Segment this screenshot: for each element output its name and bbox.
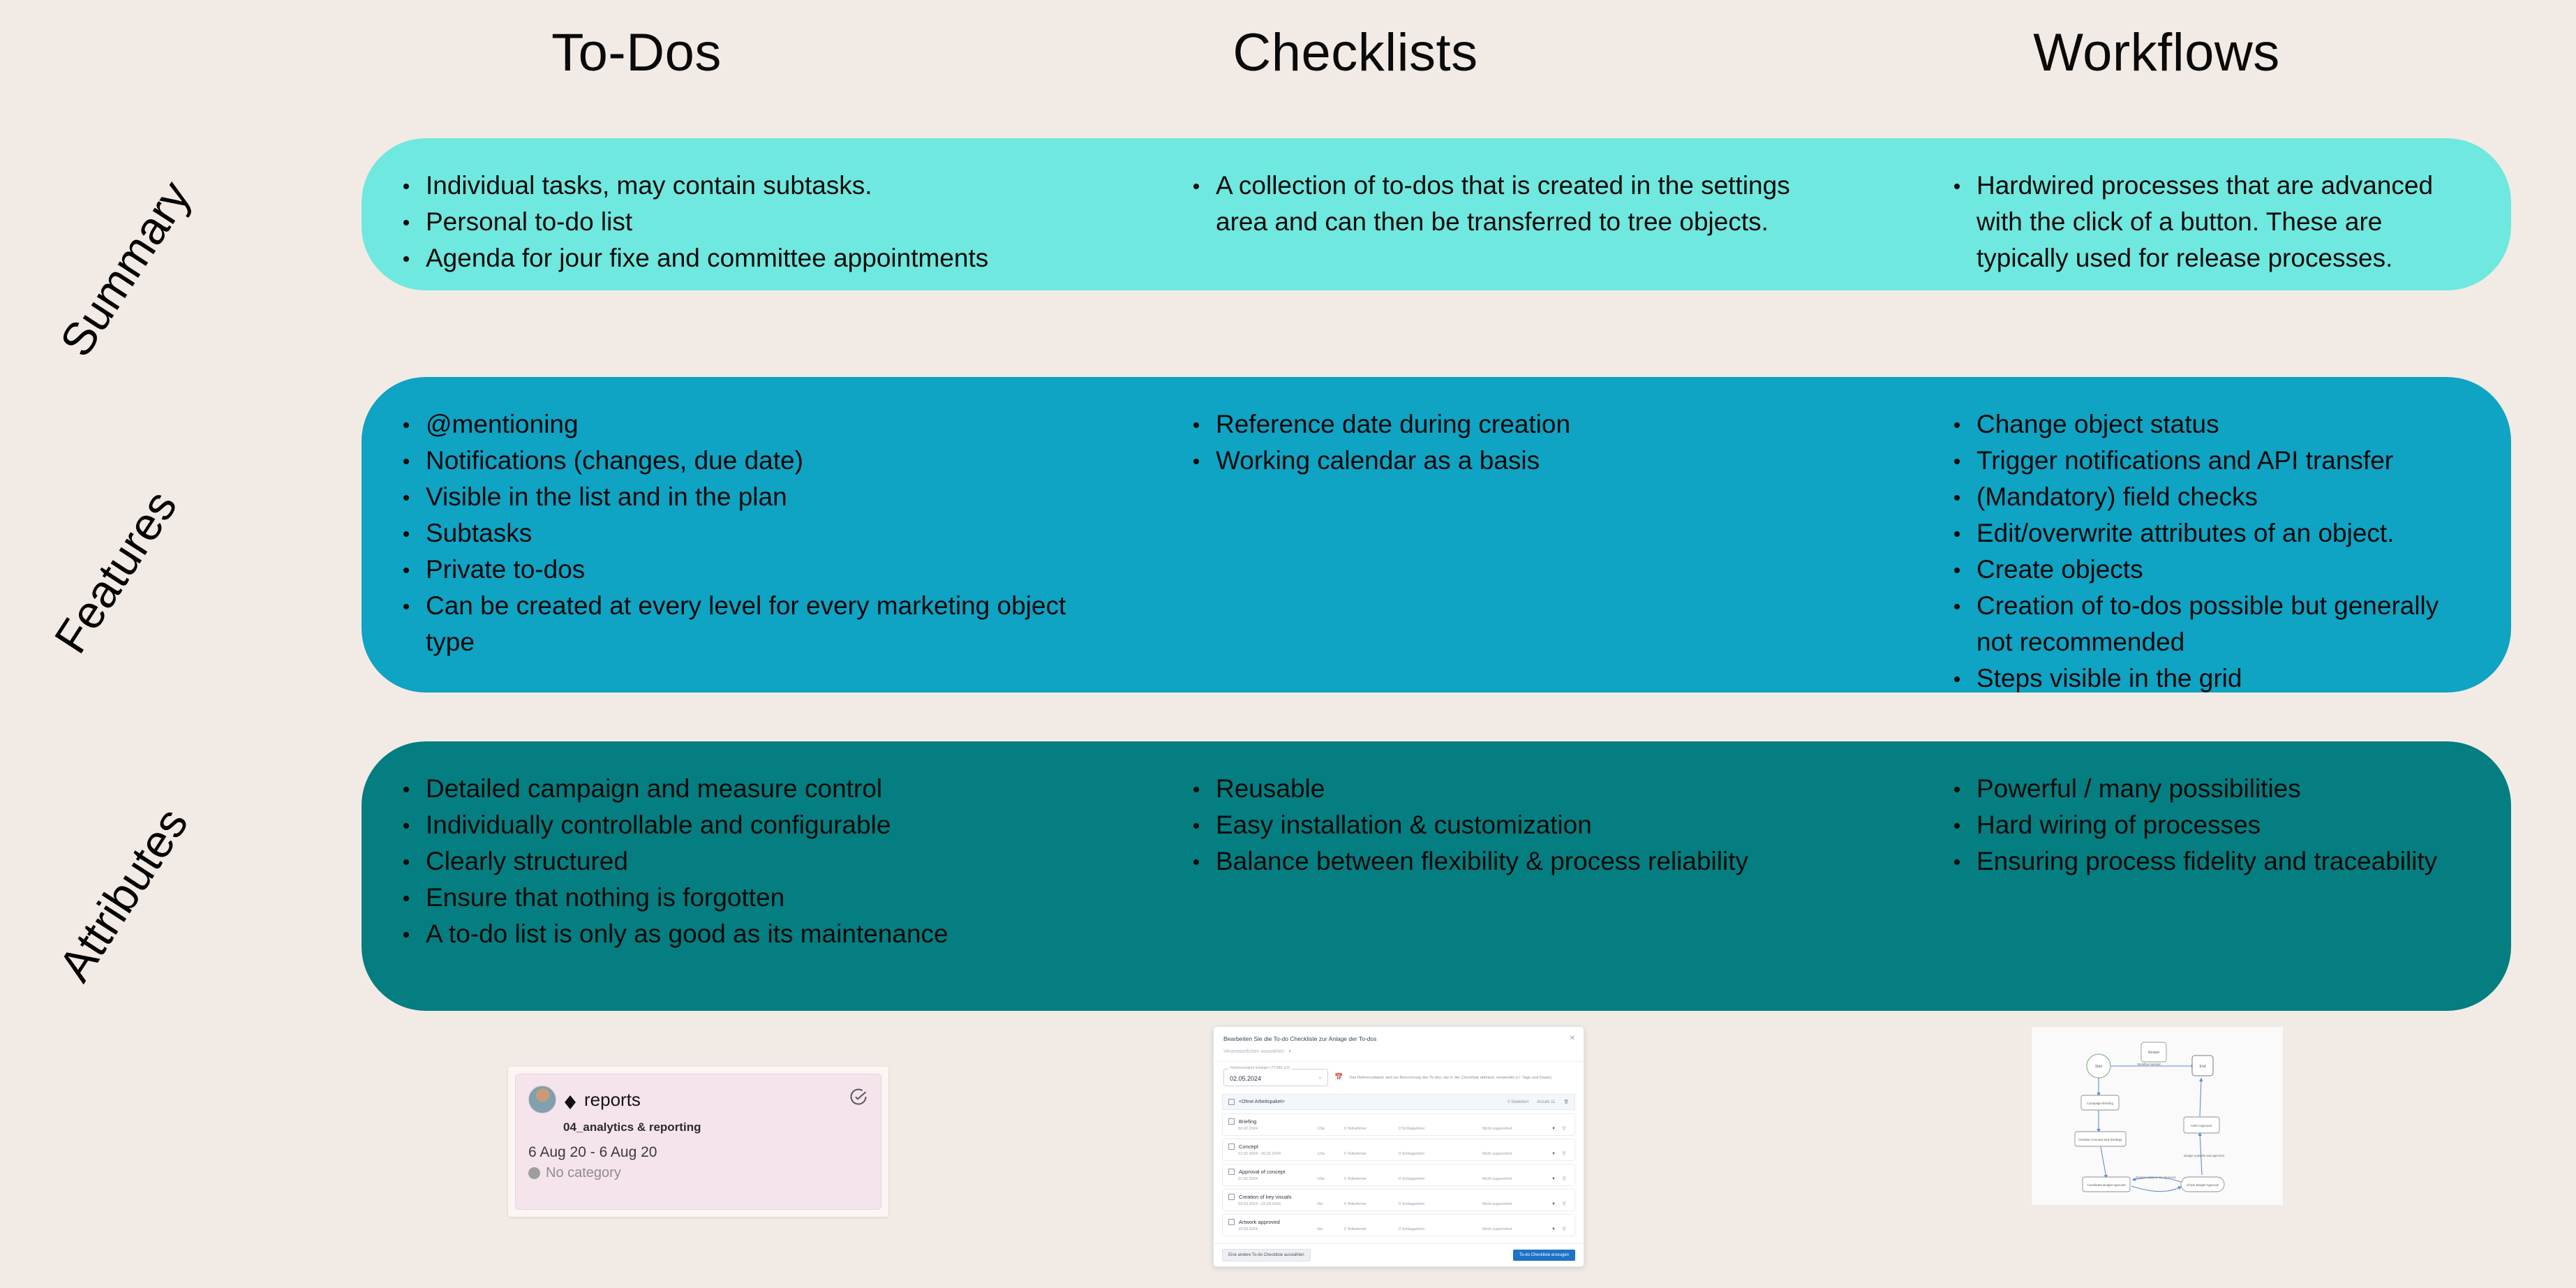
bullet-item: Ensure that nothing is forgotten bbox=[398, 880, 1072, 916]
bullet-item: Subtasks bbox=[398, 515, 1072, 552]
row-name: Artwork approved bbox=[1239, 1219, 1280, 1225]
bullet-item: Reusable bbox=[1188, 771, 1842, 807]
band-features: @mentioningNotifications (changes, due d… bbox=[362, 377, 2511, 693]
row-name: Concept bbox=[1239, 1143, 1258, 1150]
reference-date-value: 02.05.2024 bbox=[1230, 1075, 1261, 1082]
chevron-down-icon[interactable]: ▼ bbox=[1548, 1202, 1559, 1206]
bullet-item: Edit/overwrite attributes of an object. bbox=[1949, 515, 2469, 552]
todo-card-category: No category bbox=[528, 1165, 868, 1181]
group-header-row[interactable]: <Ohne Arbeitspaket> 0 Selektiert Anzahl … bbox=[1222, 1094, 1575, 1110]
row-participants: 0 Teilnehmer bbox=[1344, 1202, 1399, 1206]
bullet-item: Creation of to-dos possible but generall… bbox=[1949, 588, 2469, 660]
row-assignment: Nicht zugeordnet bbox=[1482, 1127, 1548, 1131]
chevron-down-icon: ▼ bbox=[1288, 1050, 1292, 1054]
bullet-item: Hard wiring of processes bbox=[1949, 807, 2469, 843]
edge-label-budget-not-approved: Budget empty or not approved bbox=[2136, 1176, 2176, 1179]
todo-card-screenshot: reports 04_analytics & reporting 6 Aug 2… bbox=[508, 1067, 888, 1217]
row-offset: -10w bbox=[1316, 1177, 1344, 1181]
cell-features-todos: @mentioningNotifications (changes, due d… bbox=[362, 406, 1089, 663]
checklist-row[interactable]: Artwork approved23.03.2024-6w0 Teilnehme… bbox=[1222, 1214, 1575, 1236]
checklist-rows: Briefing02.02.2024-13w0 Teilnehmer0 Schl… bbox=[1222, 1113, 1575, 1236]
row-name: Briefing bbox=[1239, 1118, 1256, 1125]
edge-label-workflow-needed: Workflow Needed bbox=[2138, 1063, 2161, 1066]
group-total-count: Anzahl 11 bbox=[1537, 1100, 1555, 1104]
group-checkbox[interactable] bbox=[1228, 1099, 1235, 1105]
checklist-row-title: Concept bbox=[1228, 1143, 1569, 1150]
bullet-item: @mentioning bbox=[398, 406, 1072, 443]
column-headers: To-Dos Checklists Workflows bbox=[0, 27, 2576, 103]
group-header-right: 0 Selektiert Anzahl 11 🗑 bbox=[1507, 1100, 1569, 1104]
row-label-attributes: Attributes bbox=[51, 800, 195, 989]
cell-summary-todos: Individual tasks, may contain subtasks.P… bbox=[362, 168, 1089, 261]
trash-icon[interactable]: 🗑 bbox=[1559, 1177, 1569, 1181]
responsible-select[interactable]: Verantwortlichen auswählen ▼ bbox=[1214, 1048, 1584, 1061]
category-dot-icon bbox=[528, 1167, 540, 1179]
calendar-icon[interactable]: 📅 bbox=[1334, 1074, 1343, 1081]
reference-date-area: Referenzdatum festlegen (TT.MM.JJJ) 02.0… bbox=[1214, 1061, 1584, 1094]
trash-icon[interactable]: 🗑 bbox=[1559, 1127, 1569, 1131]
row-date: 03.03.2024 - 22.03.2024 bbox=[1228, 1202, 1316, 1206]
reference-date-field[interactable]: Referenzdatum festlegen (TT.MM.JJJ) 02.0… bbox=[1223, 1069, 1328, 1086]
bullet-item: Create objects bbox=[1949, 552, 2469, 588]
row-participants: 0 Teilnehmer bbox=[1344, 1152, 1399, 1156]
row-assignment: Nicht zugeordnet bbox=[1482, 1227, 1548, 1231]
node-start-label: Start bbox=[2095, 1065, 2103, 1069]
row-assignment: Nicht zugeordnet bbox=[1482, 1202, 1548, 1206]
cell-features-checklists: Reference date during creationWorking ca… bbox=[1089, 406, 1870, 663]
row-checkbox[interactable] bbox=[1228, 1169, 1235, 1175]
todo-card-header: reports bbox=[528, 1086, 868, 1113]
cell-attributes-checklists: ReusableEasy installation & customizatio… bbox=[1089, 771, 1870, 982]
responsible-placeholder: Verantwortlichen auswählen bbox=[1223, 1049, 1284, 1054]
edge-label-budget-approved: Budget available and approved bbox=[2184, 1154, 2224, 1157]
close-icon[interactable]: ✕ bbox=[1570, 1035, 1575, 1042]
bullet-list: Hardwired processes that are advanced wi… bbox=[1949, 168, 2469, 276]
bullet-item: Balance between flexibility & process re… bbox=[1188, 843, 1842, 880]
bullet-item: A to-do list is only as good as its main… bbox=[398, 916, 1072, 952]
group-selected-count: 0 Selektiert bbox=[1507, 1100, 1528, 1104]
row-label-features: Features bbox=[47, 483, 184, 660]
row-name: Creation of key visuals bbox=[1239, 1194, 1291, 1200]
row-tags: 0 Schlagwörter bbox=[1399, 1127, 1482, 1131]
row-date: 12.02.2024 - 26.02.2024 bbox=[1228, 1152, 1316, 1156]
node-coordinate-budget-approval-label: Coordinate Budget Approval bbox=[2087, 1183, 2126, 1187]
chevron-down-icon[interactable]: ▼ bbox=[1548, 1177, 1559, 1181]
dialog-footer: Eine andere To-do Checkliste auswählen T… bbox=[1214, 1243, 1584, 1266]
row-tags: 0 Schlagwörter bbox=[1399, 1202, 1482, 1206]
group-label: <Ohne Arbeitspaket> bbox=[1239, 1100, 1285, 1104]
row-date: 02.02.2024 bbox=[1228, 1127, 1316, 1131]
checklist-row[interactable]: Creation of key visuals03.03.2024 - 22.0… bbox=[1222, 1189, 1575, 1211]
row-offset: -13w bbox=[1316, 1127, 1344, 1131]
row-offset: -12w bbox=[1316, 1152, 1344, 1156]
workflow-diagram: Start Restart End Campaign Briefing Crea… bbox=[2032, 1027, 2283, 1205]
row-offset: -9w bbox=[1316, 1202, 1344, 1206]
node-campaign-briefing-label: Campaign Briefing bbox=[2087, 1102, 2113, 1105]
choose-other-checklist-button[interactable]: Eine andere To-do Checkliste auswählen bbox=[1222, 1249, 1311, 1261]
trash-icon[interactable]: 🗑 bbox=[1559, 1202, 1569, 1206]
checklist-row[interactable]: Approval of concept27.02.2024-10w0 Teiln… bbox=[1222, 1164, 1575, 1186]
checklist-row-title: Artwork approved bbox=[1228, 1219, 1569, 1225]
bullet-list: A collection of to-dos that is created i… bbox=[1188, 168, 1842, 240]
check-circle-icon[interactable] bbox=[849, 1087, 868, 1106]
checklist-row-meta: 27.02.2024-10w0 Teilnehmer0 Schlagwörter… bbox=[1228, 1177, 1569, 1181]
row-participants: 0 Teilnehmer bbox=[1344, 1127, 1399, 1131]
checklist-row-meta: 23.03.2024-6w0 Teilnehmer0 SchlagwörterN… bbox=[1228, 1227, 1569, 1231]
bullet-item: Clearly structured bbox=[398, 843, 1072, 880]
todo-card-dates: 6 Aug 20 - 6 Aug 20 bbox=[528, 1144, 868, 1161]
bullet-list: Powerful / many possibilitiesHard wiring… bbox=[1949, 771, 2469, 880]
band-summary: Individual tasks, may contain subtasks.P… bbox=[362, 138, 2511, 290]
checklist-row[interactable]: Concept12.02.2024 - 26.02.2024-12w0 Teil… bbox=[1222, 1139, 1575, 1161]
row-checkbox[interactable] bbox=[1228, 1118, 1235, 1125]
bullet-item: Steps visible in the grid bbox=[1949, 660, 2469, 697]
bullet-item: Ensuring process fidelity and traceabili… bbox=[1949, 843, 2469, 880]
clear-icon[interactable]: ✕ bbox=[1318, 1076, 1322, 1081]
diamond-icon bbox=[565, 1090, 576, 1102]
row-tags: 0 Schlagwörter bbox=[1399, 1152, 1482, 1156]
node-cmo-approval-label: CMO Approval bbox=[2191, 1124, 2212, 1127]
checklist-row-meta: 12.02.2024 - 26.02.2024-12w0 Teilnehmer0… bbox=[1228, 1152, 1569, 1156]
column-header-todos: To-Dos bbox=[551, 27, 722, 80]
bullet-list: Change object statusTrigger notification… bbox=[1949, 406, 2469, 697]
row-name: Approval of concept bbox=[1239, 1169, 1285, 1175]
bullet-item: Trigger notifications and API transfer bbox=[1949, 443, 2469, 479]
row-checkbox[interactable] bbox=[1228, 1219, 1235, 1225]
row-participants: 0 Teilnehmer bbox=[1344, 1227, 1399, 1231]
checklist-row-meta: 02.02.2024-13w0 Teilnehmer0 Schlagwörter… bbox=[1228, 1127, 1569, 1131]
bullet-item: Working calendar as a basis bbox=[1188, 443, 1842, 479]
workflow-diagram-screenshot: Start Restart End Campaign Briefing Crea… bbox=[2031, 1026, 2284, 1206]
node-creative-concept-label: Creative Concept and Strategy bbox=[2078, 1138, 2123, 1141]
cell-summary-checklists: A collection of to-dos that is created i… bbox=[1089, 168, 1870, 261]
checklist-row-title: Briefing bbox=[1228, 1118, 1569, 1125]
cell-attributes-workflows: Powerful / many possibilitiesHard wiring… bbox=[1870, 771, 2511, 982]
row-assignment: Nicht zugeordnet bbox=[1482, 1152, 1548, 1156]
row-tags: 0 Schlagwörter bbox=[1399, 1227, 1482, 1231]
bullet-list: @mentioningNotifications (changes, due d… bbox=[398, 406, 1072, 660]
reference-date-legend: Referenzdatum festlegen (TT.MM.JJJ) bbox=[1228, 1066, 1292, 1070]
chevron-down-icon[interactable]: ▼ bbox=[1548, 1127, 1559, 1131]
band-attributes: Detailed campaign and measure controlInd… bbox=[362, 741, 2511, 1011]
node-check-budget-approval-label: Check Budget Approval bbox=[2187, 1183, 2219, 1187]
bullet-item: Detailed campaign and measure control bbox=[398, 771, 1072, 807]
todo-card-title: reports bbox=[584, 1089, 641, 1111]
trash-icon[interactable]: 🗑 bbox=[1559, 1227, 1569, 1231]
bullet-list: ReusableEasy installation & customizatio… bbox=[1188, 771, 1842, 880]
bullet-item: Private to-dos bbox=[398, 552, 1072, 588]
dialog-header: Bearbeiten Sie die To-do Checkliste zur … bbox=[1214, 1027, 1584, 1048]
checklist-row-meta: 03.03.2024 - 22.03.2024-9w0 Teilnehmer0 … bbox=[1228, 1202, 1569, 1206]
row-assignment: Nicht zugeordnet bbox=[1482, 1177, 1548, 1181]
todo-card-subtitle: 04_analytics & reporting bbox=[563, 1120, 868, 1134]
chevron-down-icon[interactable]: ▼ bbox=[1548, 1152, 1559, 1156]
thumbnail-strip: reports 04_analytics & reporting 6 Aug 2… bbox=[0, 1019, 2576, 1288]
row-tags: 0 Schlagwörter bbox=[1399, 1177, 1482, 1181]
checklist-row[interactable]: Briefing02.02.2024-13w0 Teilnehmer0 Schl… bbox=[1222, 1113, 1575, 1136]
bullet-list: Detailed campaign and measure controlInd… bbox=[398, 771, 1072, 952]
trash-icon[interactable]: 🗑 bbox=[1559, 1152, 1569, 1156]
trash-icon[interactable]: 🗑 bbox=[1563, 1100, 1569, 1104]
reference-date-hint: Das Referenzdatum wird zur Berechnung de… bbox=[1349, 1076, 1574, 1080]
user-avatar-icon bbox=[528, 1086, 556, 1113]
column-header-workflows: Workflows bbox=[2033, 27, 2280, 80]
bullet-item: Agenda for jour fixe and committee appoi… bbox=[398, 240, 1072, 276]
row-checkbox[interactable] bbox=[1228, 1143, 1235, 1150]
row-date: 23.03.2024 bbox=[1228, 1227, 1316, 1231]
bullet-item: A collection of to-dos that is created i… bbox=[1188, 168, 1842, 240]
bullet-item: Individual tasks, may contain subtasks. bbox=[398, 168, 1072, 204]
node-restart-label: Restart bbox=[2148, 1051, 2160, 1055]
node-end-label: End bbox=[2200, 1065, 2206, 1069]
cell-attributes-todos: Detailed campaign and measure controlInd… bbox=[362, 771, 1089, 982]
bullet-item: Visible in the list and in the plan bbox=[398, 479, 1072, 515]
bullet-item: Individually controllable and configurab… bbox=[398, 807, 1072, 843]
todo-card-category-label: No category bbox=[546, 1165, 621, 1181]
row-label-summary: Summary bbox=[52, 173, 198, 364]
bullet-item: Notifications (changes, due date) bbox=[398, 443, 1072, 479]
todo-card[interactable]: reports 04_analytics & reporting 6 Aug 2… bbox=[515, 1074, 881, 1210]
bullet-item: Change object status bbox=[1949, 406, 2469, 443]
checklist-row-title: Creation of key visuals bbox=[1228, 1194, 1569, 1200]
checklist-row-title: Approval of concept bbox=[1228, 1169, 1569, 1175]
cell-features-workflows: Change object statusTrigger notification… bbox=[1870, 406, 2511, 663]
bullet-list: Individual tasks, may contain subtasks.P… bbox=[398, 168, 1072, 276]
create-checklist-button[interactable]: To-do Checkliste erzeugen bbox=[1513, 1250, 1575, 1261]
checklist-dialog-screenshot: Bearbeiten Sie die To-do Checkliste zur … bbox=[1213, 1026, 1584, 1267]
row-offset: -6w bbox=[1316, 1227, 1344, 1231]
bullet-item: Personal to-do list bbox=[398, 204, 1072, 240]
bullet-list: Reference date during creationWorking ca… bbox=[1188, 406, 1842, 479]
row-participants: 0 Teilnehmer bbox=[1344, 1177, 1399, 1181]
bullet-item: Easy installation & customization bbox=[1188, 807, 1842, 843]
chevron-down-icon[interactable]: ▼ bbox=[1548, 1227, 1559, 1231]
bullet-item: (Mandatory) field checks bbox=[1949, 479, 2469, 515]
bullet-item: Can be created at every level for every … bbox=[398, 588, 1072, 660]
row-date: 27.02.2024 bbox=[1228, 1177, 1316, 1181]
bullet-item: Reference date during creation bbox=[1188, 406, 1842, 443]
column-header-checklists: Checklists bbox=[1233, 27, 1477, 80]
dialog-title: Bearbeiten Sie die To-do Checkliste zur … bbox=[1223, 1035, 1376, 1042]
cell-summary-workflows: Hardwired processes that are advanced wi… bbox=[1870, 168, 2511, 261]
group-header-left: <Ohne Arbeitspaket> bbox=[1228, 1099, 1285, 1105]
bullet-item: Powerful / many possibilities bbox=[1949, 771, 2469, 807]
bullet-item: Hardwired processes that are advanced wi… bbox=[1949, 168, 2469, 276]
row-checkbox[interactable] bbox=[1228, 1194, 1235, 1200]
